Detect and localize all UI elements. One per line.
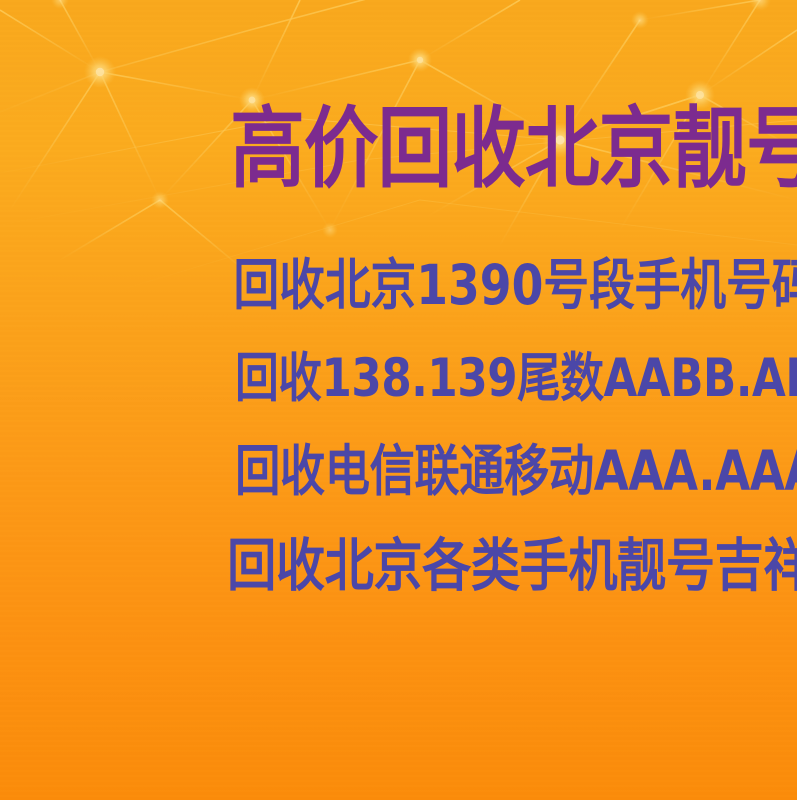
poster-subline-4: 回收北京各类手机靓号吉祥号个性号	[227, 538, 571, 595]
poster-subline-1: 回收北京1390号段手机号码	[233, 258, 564, 313]
poster-subline-2: 回收138.139尾数AABB.ABAB.AAA	[235, 352, 563, 405]
poster-text-content: 高价回收北京靓号 回收北京1390号段手机号码 回收138.139尾数AABB.…	[0, 0, 797, 800]
poster-headline: 高价回收北京靓号	[230, 104, 567, 194]
promo-poster: 高价回收北京靓号 回收北京1390号段手机号码 回收138.139尾数AABB.…	[0, 0, 797, 800]
poster-subline-3: 回收电信联通移动AAA.AAAA.ABCD	[235, 444, 563, 499]
